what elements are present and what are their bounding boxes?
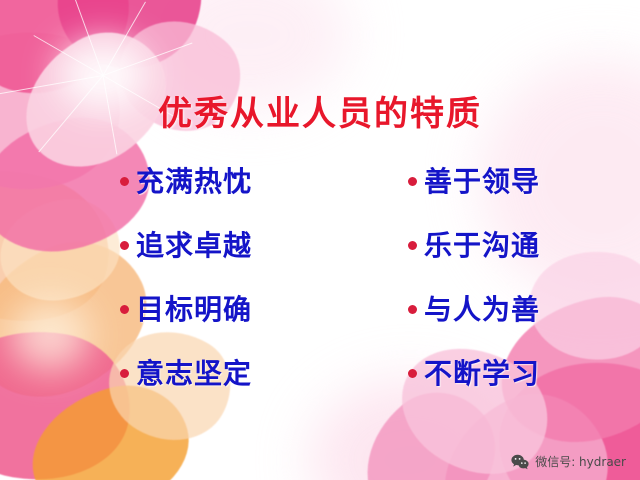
list-item: 充满热忱 xyxy=(120,160,252,200)
list-item: 与人为善 xyxy=(408,288,540,328)
traits-columns: 充满热忱 追求卓越 目标明确 意志坚定 善于领导 xyxy=(120,160,540,392)
dot-bullet-icon xyxy=(120,177,129,186)
list-item: 善于领导 xyxy=(408,160,540,200)
list-item-label: 目标明确 xyxy=(136,288,252,328)
dot-bullet-icon xyxy=(408,241,417,250)
list-item: 意志坚定 xyxy=(120,352,252,392)
dot-bullet-icon xyxy=(120,369,129,378)
page-title: 优秀从业人员的特质 xyxy=(0,86,640,135)
wechat-icon xyxy=(511,454,529,470)
traits-column-left: 充满热忱 追求卓越 目标明确 意志坚定 xyxy=(120,160,252,392)
traits-column-right: 善于领导 乐于沟通 与人为善 不断学习 xyxy=(408,160,540,392)
list-item-label: 追求卓越 xyxy=(136,224,252,264)
list-item-label: 善于领导 xyxy=(424,160,540,200)
list-item-label: 意志坚定 xyxy=(136,352,252,392)
list-item: 不断学习 xyxy=(408,352,540,392)
watermark: 微信号: hydraer xyxy=(507,451,630,472)
list-item: 目标明确 xyxy=(120,288,252,328)
list-item: 追求卓越 xyxy=(120,224,252,264)
dot-bullet-icon xyxy=(408,369,417,378)
list-item-label: 乐于沟通 xyxy=(424,224,540,264)
dot-bullet-icon xyxy=(120,241,129,250)
watermark-text: 微信号: hydraer xyxy=(535,453,626,470)
dot-bullet-icon xyxy=(120,305,129,314)
dot-bullet-icon xyxy=(408,177,417,186)
list-item-label: 充满热忱 xyxy=(136,160,252,200)
list-item: 乐于沟通 xyxy=(408,224,540,264)
dot-bullet-icon xyxy=(408,305,417,314)
slide-canvas: 优秀从业人员的特质 充满热忱 追求卓越 目标明确 意志坚定 xyxy=(0,0,640,480)
list-item-label: 与人为善 xyxy=(424,288,540,328)
list-item-label: 不断学习 xyxy=(424,352,540,392)
slide-content: 优秀从业人员的特质 充满热忱 追求卓越 目标明确 意志坚定 xyxy=(0,0,640,480)
